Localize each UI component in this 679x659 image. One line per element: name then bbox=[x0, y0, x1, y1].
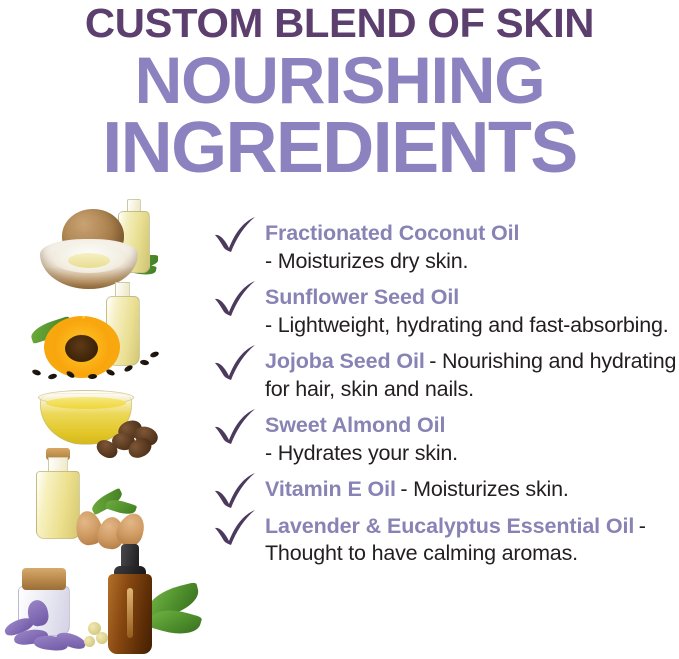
ingredients-section: Fractionated Coconut Oil - Moisturizes d… bbox=[0, 203, 679, 659]
list-item: Jojoba Seed Oil - Nourishing and hydrati… bbox=[205, 349, 679, 404]
ingredient-description: - Hydrates your skin. bbox=[265, 441, 458, 465]
ingredient-name: Sunflower Seed Oil bbox=[265, 285, 459, 309]
sweet-almond-oil-photo bbox=[0, 455, 205, 549]
ingredient-name: Vitamin E Oil bbox=[265, 477, 396, 501]
check-icon bbox=[211, 215, 259, 255]
lavender-eucalyptus-oil-photo bbox=[0, 548, 205, 658]
page-heading: CUSTOM BLEND OF SKIN NOURISHING INGREDIE… bbox=[0, 0, 679, 185]
heading-line-3: INGREDIENTS bbox=[0, 111, 679, 185]
ingredient-description: - Moisturizes skin. bbox=[400, 477, 568, 501]
ingredient-description: - Lightweight, hydrating and fast-absorb… bbox=[265, 313, 669, 337]
ingredient-name: Fractionated Coconut Oil bbox=[265, 221, 519, 245]
heading-line-1: CUSTOM BLEND OF SKIN bbox=[0, 2, 679, 45]
sunflower-seed-oil-photo bbox=[0, 288, 205, 380]
list-item-text: Fractionated Coconut Oil - Moisturizes d… bbox=[265, 221, 679, 276]
list-item: Sweet Almond Oil - Hydrates your skin. bbox=[205, 413, 679, 468]
list-item-text: Sunflower Seed Oil - Lightweight, hydrat… bbox=[265, 285, 679, 340]
list-item-text: Sweet Almond Oil - Hydrates your skin. bbox=[265, 413, 679, 468]
list-item-text: Jojoba Seed Oil - Nourishing and hydrati… bbox=[265, 349, 679, 404]
coconut-oil-photo bbox=[0, 203, 205, 291]
list-item-text: Lavender & Eucalyptus Essential Oil - Th… bbox=[265, 514, 679, 569]
list-item: Lavender & Eucalyptus Essential Oil - Th… bbox=[205, 514, 679, 569]
ingredient-name: Sweet Almond Oil bbox=[265, 413, 445, 437]
check-icon bbox=[211, 508, 259, 548]
list-item: Sunflower Seed Oil - Lightweight, hydrat… bbox=[205, 285, 679, 340]
ingredient-name: Lavender & Eucalyptus Essential Oil bbox=[265, 514, 634, 538]
ingredient-list: Fractionated Coconut Oil - Moisturizes d… bbox=[205, 221, 679, 578]
heading-line-2: NOURISHING bbox=[0, 47, 679, 113]
list-item-text: Vitamin E Oil - Moisturizes skin. bbox=[265, 477, 679, 505]
check-icon bbox=[211, 343, 259, 383]
jojoba-seed-oil-photo bbox=[0, 381, 205, 463]
ingredient-description: - Moisturizes dry skin. bbox=[265, 249, 468, 273]
check-icon bbox=[211, 407, 259, 447]
check-icon bbox=[211, 279, 259, 319]
ingredient-image-column bbox=[0, 203, 205, 659]
ingredient-name: Jojoba Seed Oil bbox=[265, 349, 425, 373]
check-icon bbox=[211, 471, 259, 511]
list-item: Vitamin E Oil - Moisturizes skin. bbox=[205, 477, 679, 505]
list-item: Fractionated Coconut Oil - Moisturizes d… bbox=[205, 221, 679, 276]
